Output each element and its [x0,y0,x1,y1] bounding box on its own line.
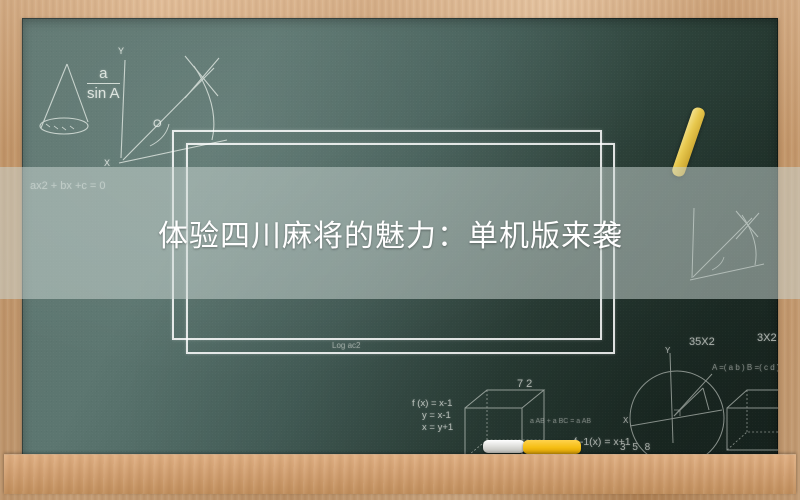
chalk-ledge [4,454,796,494]
white-chalk-icon [483,440,525,453]
banner-image: a sin A Y X O ax2 + bx +c = 0 [0,0,800,500]
yellow-chalk-icon [523,440,581,454]
page-title: 体验四川麻将的魅力：单机版来袭 [0,167,800,299]
